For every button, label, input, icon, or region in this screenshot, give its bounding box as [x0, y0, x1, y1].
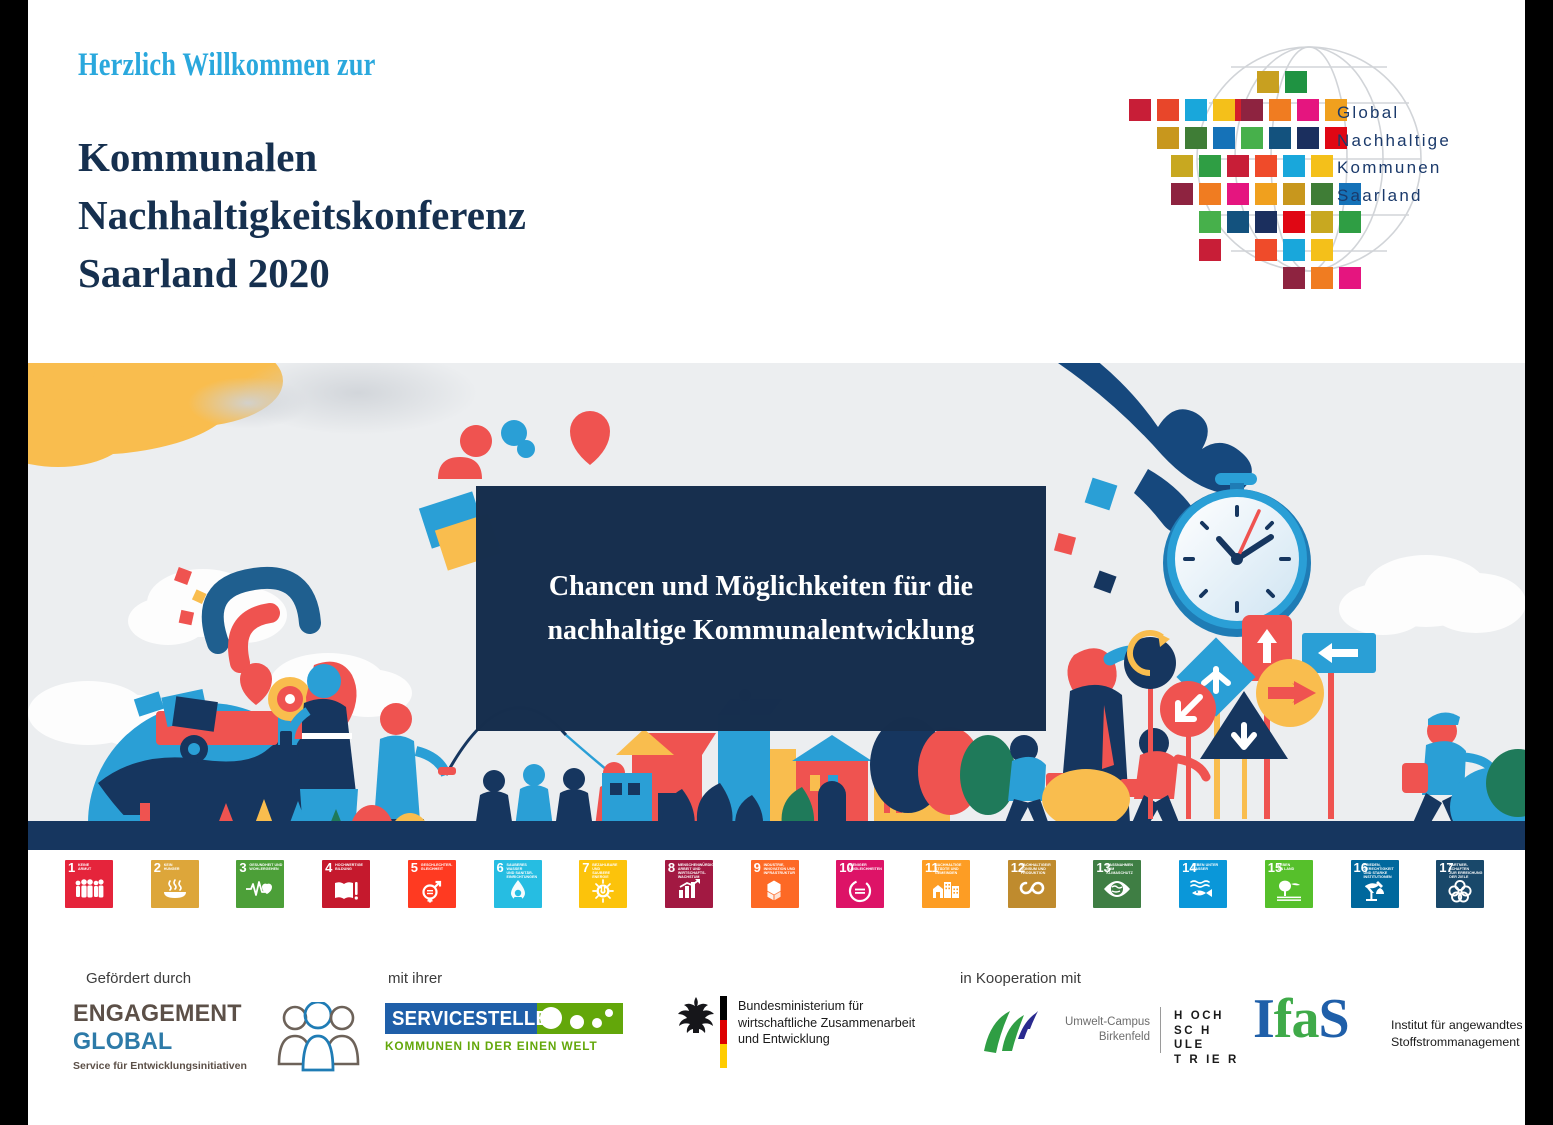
sdg-label: LEBEN UNTER WASSER [1192, 863, 1226, 871]
sdg-label: NACHHALTIGE/R KONSUM UND PRODUKTION [1021, 863, 1055, 876]
sdg-glyph-icon [665, 879, 713, 905]
servicestelle-dots-icon [537, 1003, 623, 1034]
sdg-number: 6 [497, 861, 504, 874]
sdg-glyph-icon [65, 879, 113, 905]
ifas-letter-i: I [1253, 988, 1274, 1050]
servicestelle-sub: KOMMUNEN IN DER EINEN WELT [385, 1039, 598, 1053]
sdg-icon-9[interactable]: 9INDUSTRIE, INNOVATION UND INFRASTRUKTUR [751, 860, 799, 908]
sdg-icon-3[interactable]: 3GESUNDHEIT UND WOHLERGEHEN [236, 860, 284, 908]
sdg-glyph-icon [408, 879, 456, 905]
sdg-label: SAUBERES WASSER UND SANITÄR- EINRICHTUNG… [507, 863, 541, 880]
sdg-glyph-icon [1008, 879, 1056, 905]
sdg-glyph-icon [322, 879, 370, 905]
sdg-number: 9 [754, 861, 761, 874]
hero-illustration: Chancen und Möglichkeiten für die nachha… [28, 363, 1525, 850]
sdg-glyph-icon [1351, 879, 1399, 905]
engagement-global-people-icon [275, 1002, 361, 1074]
sdg-icon-15[interactable]: 15LEBEN AN LAND [1265, 860, 1313, 908]
caption-kooperation: in Kooperation mit [960, 970, 1081, 987]
subtitle-text: Chancen und Möglichkeiten für die nachha… [521, 565, 1000, 653]
sdg-glyph-icon [1179, 879, 1227, 905]
sdg-number: 5 [411, 861, 418, 874]
sdg-icon-14[interactable]: 14LEBEN UNTER WASSER [1179, 860, 1227, 908]
engagement-global-line2: GLOBAL [73, 1028, 172, 1056]
sdg-icon-16[interactable]: 16FRIEDEN, GERECHTIGKEIT UND STARKE INST… [1351, 860, 1399, 908]
sdg-glyph-icon [751, 879, 799, 905]
page-title: Kommunalen Nachhaltigkeitskonferenz Saar… [78, 128, 526, 302]
sdg-icon-10[interactable]: 10WENIGER UNGLEICHHEITEN [836, 860, 884, 908]
sdg-glyph-icon [579, 879, 627, 905]
ifas-letter-fa: fa [1274, 988, 1319, 1050]
sdg-label: KEINE ARMUT [78, 863, 112, 871]
sdg-label: MASSNAHMEN ZUM KLIMASCHUTZ [1106, 863, 1140, 876]
sdg-icon-2[interactable]: 2KEIN HUNGER [151, 860, 199, 908]
sdg-icon-6[interactable]: 6SAUBERES WASSER UND SANITÄR- EINRICHTUN… [494, 860, 542, 908]
sdg-icon-row: 1KEINE ARMUT2KEIN HUNGER3GESUNDHEIT UND … [28, 860, 1525, 920]
sdg-label: LEBEN AN LAND [1278, 863, 1312, 871]
sdg-label: KEIN HUNGER [164, 863, 198, 871]
sdg-icon-4[interactable]: 4HOCHWERTIGE BILDUNG [322, 860, 370, 908]
hochschule-trier-logo: Umwelt-Campus Birkenfeld H OCH SC H ULE … [978, 1005, 1248, 1060]
bmz-text: Bundesministerium für wirtschaftliche Zu… [738, 998, 915, 1048]
sdg-label: GESUNDHEIT UND WOHLERGEHEN [249, 863, 283, 871]
ifas-logo: IfaS Institut für angewandtes Stoffstrom… [1253, 995, 1523, 1057]
sdg-label: FRIEDEN, GERECHTIGKEIT UND STARKE INSTIT… [1364, 863, 1398, 880]
umwelt-campus-leaf-icon [978, 1009, 1040, 1055]
hochschule-trier-name: H OCH SC H ULE T R IE R [1174, 1009, 1248, 1067]
sdg-number: 7 [582, 861, 589, 874]
sdg-number: 1 [68, 861, 75, 874]
logo-line-4: Saarland [1337, 182, 1451, 210]
servicestelle-logo: SERVICESTELLE KOMMUNEN IN DER EINEN WELT [385, 1003, 625, 1061]
sdg-label: WENIGER UNGLEICHHEITEN [849, 863, 883, 871]
caption-engagement: Gefördert durch [86, 970, 191, 987]
subtitle-box: Chancen und Möglichkeiten für die nachha… [476, 486, 1046, 731]
logo-divider [1160, 1007, 1161, 1053]
welcome-kicker: Herzlich Willkommen zur [78, 47, 375, 84]
sdg-glyph-icon [1265, 879, 1313, 905]
umwelt-campus-text: Umwelt-Campus Birkenfeld [1040, 1015, 1150, 1045]
ifas-letter-s: S [1318, 988, 1348, 1050]
sdg-glyph-icon [836, 879, 884, 905]
presentation-slide: Herzlich Willkommen zur Kommunalen Nachh… [28, 0, 1525, 1125]
sdg-glyph-icon [151, 879, 199, 905]
sdg-icon-13[interactable]: 13MASSNAHMEN ZUM KLIMASCHUTZ [1093, 860, 1141, 908]
sdg-label: HOCHWERTIGE BILDUNG [335, 863, 369, 871]
sdg-label: GESCHLECHTER- GLEICHHEIT [421, 863, 455, 871]
bundesadler-eagle-icon [676, 994, 716, 1036]
sdg-label: INDUSTRIE, INNOVATION UND INFRASTRUKTUR [764, 863, 798, 876]
caption-servicestelle: mit ihrer [388, 970, 442, 987]
sdg-glyph-icon [494, 879, 542, 905]
sdg-icon-17[interactable]: 17PARTNER- SCHAFTEN ZUR ERREICHUNG DER Z… [1436, 860, 1484, 908]
sdg-label: BEZAHLBARE UND SAUBERE ENERGIE [592, 863, 626, 880]
logo-line-3: Kommunen [1337, 154, 1451, 182]
ifas-wordmark: IfaS [1253, 987, 1349, 1051]
logo-line-1: Global [1337, 99, 1451, 127]
slide-header: Herzlich Willkommen zur Kommunalen Nachh… [28, 0, 1525, 363]
sdg-glyph-icon [1436, 879, 1484, 905]
engagement-global-logo: ENGAGEMENT GLOBAL Service für Entwicklun… [73, 1000, 333, 1075]
sdg-label: MENSCHENWÜRDIGE ARBEIT UND WIRTSCHAFTS- … [678, 863, 712, 880]
ground-strip [28, 821, 1525, 850]
german-flag-bar [720, 996, 727, 1068]
sdg-icon-11[interactable]: 11NACHHALTIGE STÄDTE UND GEMEINDEN [922, 860, 970, 908]
sdg-number: 3 [239, 861, 246, 874]
sdg-number: 4 [325, 861, 332, 874]
sdg-icon-7[interactable]: 7BEZAHLBARE UND SAUBERE ENERGIE [579, 860, 627, 908]
engagement-global-tagline: Service für Entwicklungsinitiativen [73, 1060, 247, 1072]
logo-line-2: Nachhaltige [1337, 127, 1451, 155]
sdg-icon-12[interactable]: 12NACHHALTIGE/R KONSUM UND PRODUKTION [1008, 860, 1056, 908]
bmz-logo: Bundesministerium für wirtschaftliche Zu… [658, 930, 926, 1075]
ifas-subtitle: Institut für angewandtes Stoffstrommanag… [1391, 1017, 1523, 1050]
sdg-glyph-icon [1093, 879, 1141, 905]
sdg-icon-1[interactable]: 1KEINE ARMUT [65, 860, 113, 908]
sdg-label: PARTNER- SCHAFTEN ZUR ERREICHUNG DER ZIE… [1449, 863, 1483, 880]
engagement-global-line1: ENGAGEMENT [73, 1000, 242, 1028]
sdg-number: 8 [668, 861, 675, 874]
sdg-label: NACHHALTIGE STÄDTE UND GEMEINDEN [935, 863, 969, 876]
sdg-icon-8[interactable]: 8MENSCHENWÜRDIGE ARBEIT UND WIRTSCHAFTS-… [665, 860, 713, 908]
sdg-glyph-icon [236, 879, 284, 905]
gnk-saarland-logo: Global Nachhaltige Kommunen Saarland [1113, 33, 1473, 305]
servicestelle-word: SERVICESTELLE [392, 1008, 548, 1031]
sdg-number: 2 [154, 861, 161, 874]
sdg-glyph-icon [922, 879, 970, 905]
sdg-icon-5[interactable]: 5GESCHLECHTER- GLEICHHEIT [408, 860, 456, 908]
